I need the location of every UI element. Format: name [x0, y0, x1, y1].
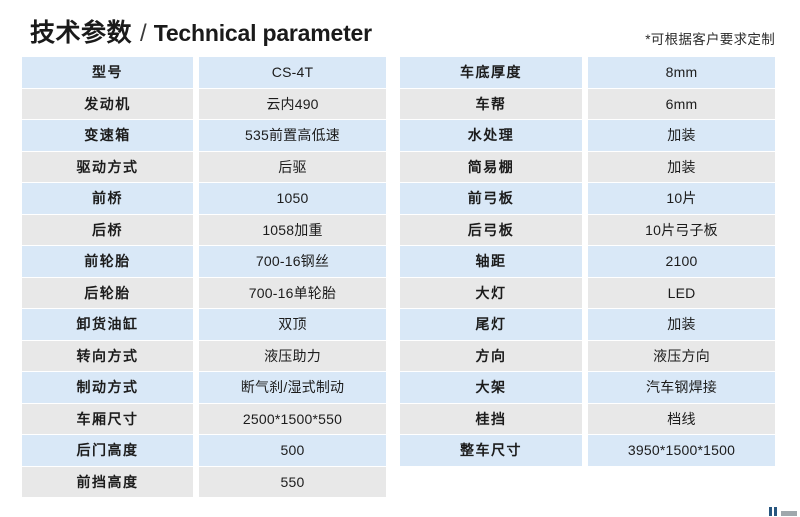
table-row: 大灯LED [400, 278, 775, 309]
table-row: 尾灯加装 [400, 309, 775, 340]
spec-label: 发动机 [22, 89, 193, 120]
spec-label: 后轮胎 [22, 278, 193, 309]
spec-value: LED [588, 278, 775, 309]
spec-value: 1058加重 [199, 215, 386, 246]
spec-value: 加装 [588, 309, 775, 340]
spec-value: 10片 [588, 183, 775, 214]
spec-label: 驱动方式 [22, 152, 193, 183]
spec-label: 车厢尺寸 [22, 404, 193, 435]
watermark-bar-icon [774, 507, 777, 516]
spec-label: 简易棚 [400, 152, 582, 183]
spec-label: 轴距 [400, 246, 582, 277]
table-row: 前弓板10片 [400, 183, 775, 214]
spec-label: 整车尺寸 [400, 435, 582, 466]
table-row: 简易棚加装 [400, 152, 775, 183]
spec-label: 后弓板 [400, 215, 582, 246]
spec-label: 方向 [400, 341, 582, 372]
spec-value: 云内490 [199, 89, 386, 120]
spec-value: 700-16单轮胎 [199, 278, 386, 309]
spec-value: 6mm [588, 89, 775, 120]
spec-value: 双顶 [199, 309, 386, 340]
table-row: 后桥1058加重 [22, 215, 386, 246]
spec-label: 大架 [400, 372, 582, 403]
watermark-block-icon [781, 511, 797, 516]
page-title-en: Technical parameter [154, 20, 372, 47]
spec-value: 10片弓子板 [588, 215, 775, 246]
spec-label: 前轮胎 [22, 246, 193, 277]
spec-label: 制动方式 [22, 372, 193, 403]
table-row: 轴距2100 [400, 246, 775, 277]
spec-label: 变速箱 [22, 120, 193, 151]
spec-value: 550 [199, 467, 386, 498]
watermark-bar-icon [769, 507, 772, 516]
spec-value: 8mm [588, 57, 775, 88]
spec-label: 大灯 [400, 278, 582, 309]
partial-logo-watermark [769, 504, 797, 516]
spec-value: 档线 [588, 404, 775, 435]
spec-value: 2500*1500*550 [199, 404, 386, 435]
table-row: 车底厚度8mm [400, 57, 775, 88]
spec-value: 500 [199, 435, 386, 466]
spec-value: 加装 [588, 120, 775, 151]
table-row: 桂挡档线 [400, 404, 775, 435]
spec-label: 卸货油缸 [22, 309, 193, 340]
spec-label: 水处理 [400, 120, 582, 151]
spec-label: 车底厚度 [400, 57, 582, 88]
table-row: 方向液压方向 [400, 341, 775, 372]
table-row: 后门高度500 [22, 435, 386, 466]
spec-value: 700-16钢丝 [199, 246, 386, 277]
spec-value: 断气刹/湿式制动 [199, 372, 386, 403]
spec-label: 尾灯 [400, 309, 582, 340]
table-row: 驱动方式后驱 [22, 152, 386, 183]
table-row: 转向方式液压助力 [22, 341, 386, 372]
spec-label: 前弓板 [400, 183, 582, 214]
table-row: 后轮胎700-16单轮胎 [22, 278, 386, 309]
spec-label: 后桥 [22, 215, 193, 246]
table-row: 制动方式断气刹/湿式制动 [22, 372, 386, 403]
page-title-cn: 技术参数 [30, 13, 132, 49]
spec-label: 前桥 [22, 183, 193, 214]
spec-value: 加装 [588, 152, 775, 183]
table-row: 前挡高度550 [22, 467, 386, 498]
spec-value: 液压助力 [199, 341, 386, 372]
spec-tables-container: 型号CS-4T发动机云内490变速箱535前置高低速驱动方式后驱前桥1050后桥… [0, 57, 800, 497]
spec-value: 汽车钢焊接 [588, 372, 775, 403]
spec-table-left: 型号CS-4T发动机云内490变速箱535前置高低速驱动方式后驱前桥1050后桥… [22, 57, 386, 498]
table-row: 后弓板10片弓子板 [400, 215, 775, 246]
table-row: 车帮6mm [400, 89, 775, 120]
table-row: 前轮胎700-16钢丝 [22, 246, 386, 277]
table-row: 发动机云内490 [22, 89, 386, 120]
table-row: 变速箱535前置高低速 [22, 120, 386, 151]
title-separator: / [140, 20, 147, 48]
customization-note: *可根据客户要求定制 [645, 28, 775, 48]
page-header: 技术参数 / Technical parameter *可根据客户要求定制 [0, 0, 800, 57]
spec-value: 535前置高低速 [199, 120, 386, 151]
spec-label: 前挡高度 [22, 467, 193, 498]
table-row: 型号CS-4T [22, 57, 386, 88]
spec-label: 桂挡 [400, 404, 582, 435]
spec-label: 型号 [22, 57, 193, 88]
spec-label: 车帮 [400, 89, 582, 120]
spec-label: 转向方式 [22, 341, 193, 372]
table-row: 车厢尺寸2500*1500*550 [22, 404, 386, 435]
table-row: 大架汽车钢焊接 [400, 372, 775, 403]
table-row: 卸货油缸双顶 [22, 309, 386, 340]
spec-table-right: 车底厚度8mm车帮6mm水处理加装简易棚加装前弓板10片后弓板10片弓子板轴距2… [400, 57, 775, 467]
spec-value: 液压方向 [588, 341, 775, 372]
page-title: 技术参数 / Technical parameter [30, 13, 372, 49]
spec-value: 3950*1500*1500 [588, 435, 775, 466]
table-row: 整车尺寸3950*1500*1500 [400, 435, 775, 466]
spec-value: CS-4T [199, 57, 386, 88]
table-row: 前桥1050 [22, 183, 386, 214]
spec-value: 后驱 [199, 152, 386, 183]
spec-value: 1050 [199, 183, 386, 214]
table-row: 水处理加装 [400, 120, 775, 151]
spec-label: 后门高度 [22, 435, 193, 466]
spec-value: 2100 [588, 246, 775, 277]
